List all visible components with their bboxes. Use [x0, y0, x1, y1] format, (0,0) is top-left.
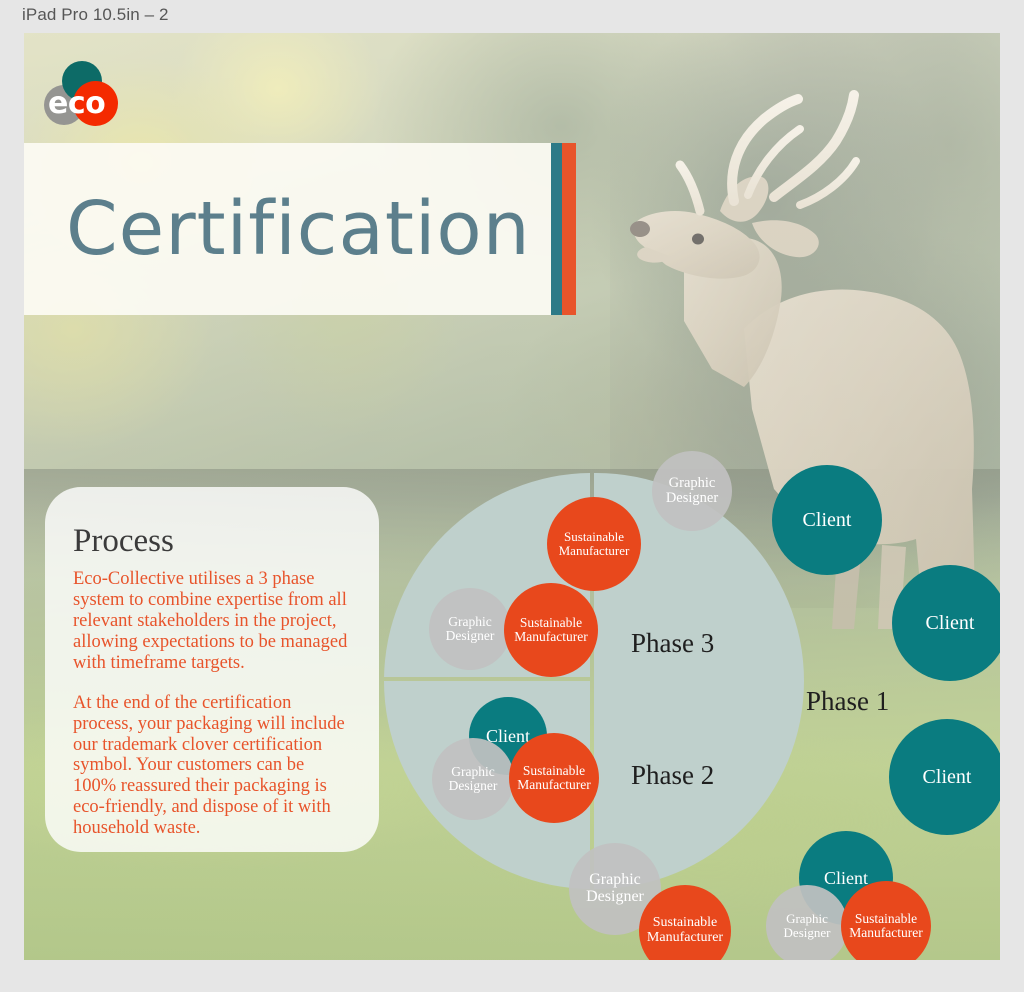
stakeholder-bubble-designer[interactable]: Graphic Designer — [432, 738, 514, 820]
accent-bar-teal-icon — [551, 143, 562, 315]
stakeholder-bubble-label: Client — [803, 510, 852, 531]
stakeholder-bubble-label: Graphic Designer — [766, 912, 848, 939]
stakeholder-bubble-designer[interactable]: Graphic Designer — [429, 588, 511, 670]
stakeholder-bubble-label: Sustainable Manufacturer — [504, 616, 598, 644]
logo-wordmark: eco — [48, 89, 105, 119]
page-title: Certification — [24, 192, 531, 266]
stakeholder-bubble-label: Client — [926, 613, 975, 634]
window-title-bar: iPad Pro 10.5in – 2 — [0, 0, 1024, 29]
process-paragraph-2: At the end of the certification process,… — [73, 693, 349, 839]
stakeholder-bubble-manufacturer[interactable]: Sustainable Manufacturer — [547, 497, 641, 591]
stakeholder-bubble-label: Graphic Designer — [652, 476, 732, 506]
stakeholder-bubble-client[interactable]: Client — [892, 565, 1000, 681]
stakeholder-bubble-label: Client — [824, 869, 868, 888]
stakeholder-bubble-manufacturer[interactable]: Sustainable Manufacturer — [841, 881, 931, 960]
phase-1-label: Phase 1 — [806, 686, 889, 717]
stakeholder-bubble-manufacturer[interactable]: Sustainable Manufacturer — [509, 733, 599, 823]
stakeholder-bubble-designer[interactable]: Graphic Designer — [766, 885, 848, 960]
eco-logo[interactable]: eco — [40, 61, 126, 131]
stakeholder-bubble-label: Sustainable Manufacturer — [841, 912, 931, 940]
stakeholder-bubble-manufacturer[interactable]: Sustainable Manufacturer — [639, 885, 731, 960]
process-heading: Process — [73, 523, 349, 559]
stakeholder-bubble-client[interactable]: Client — [772, 465, 882, 575]
stakeholder-bubble-designer[interactable]: Graphic Designer — [652, 451, 732, 531]
process-text-card: Process Eco-Collective utilises a 3 phas… — [45, 487, 379, 852]
window-title-label: iPad Pro 10.5in – 2 — [0, 5, 169, 25]
stakeholder-bubble-label: Client — [923, 767, 972, 788]
phase-3-label: Phase 3 — [631, 628, 714, 659]
stakeholder-bubble-label: Graphic Designer — [432, 765, 514, 793]
stakeholder-bubble-label: Sustainable Manufacturer — [639, 916, 731, 945]
stakeholder-bubble-label: Graphic Designer — [569, 872, 661, 906]
accent-bar-orange-icon — [562, 143, 576, 315]
stakeholder-bubble-label: Sustainable Manufacturer — [509, 764, 599, 792]
stakeholder-bubble-label: Graphic Designer — [429, 615, 511, 643]
phase-2-label: Phase 2 — [631, 760, 714, 791]
stakeholder-bubble-label: Sustainable Manufacturer — [547, 530, 641, 557]
phase-wheel-diagram: Phase 1 Phase 2 Phase 3 Graphic Designer… — [354, 433, 1000, 960]
stakeholder-bubble-manufacturer[interactable]: Sustainable Manufacturer — [504, 583, 598, 677]
slide-canvas[interactable]: eco Certification Process Eco-Collective… — [24, 33, 1000, 960]
process-paragraph-1: Eco-Collective utilises a 3 phase system… — [73, 569, 349, 673]
slide-title-banner: Certification — [24, 143, 576, 315]
stakeholder-bubble-client[interactable]: Client — [889, 719, 1000, 835]
